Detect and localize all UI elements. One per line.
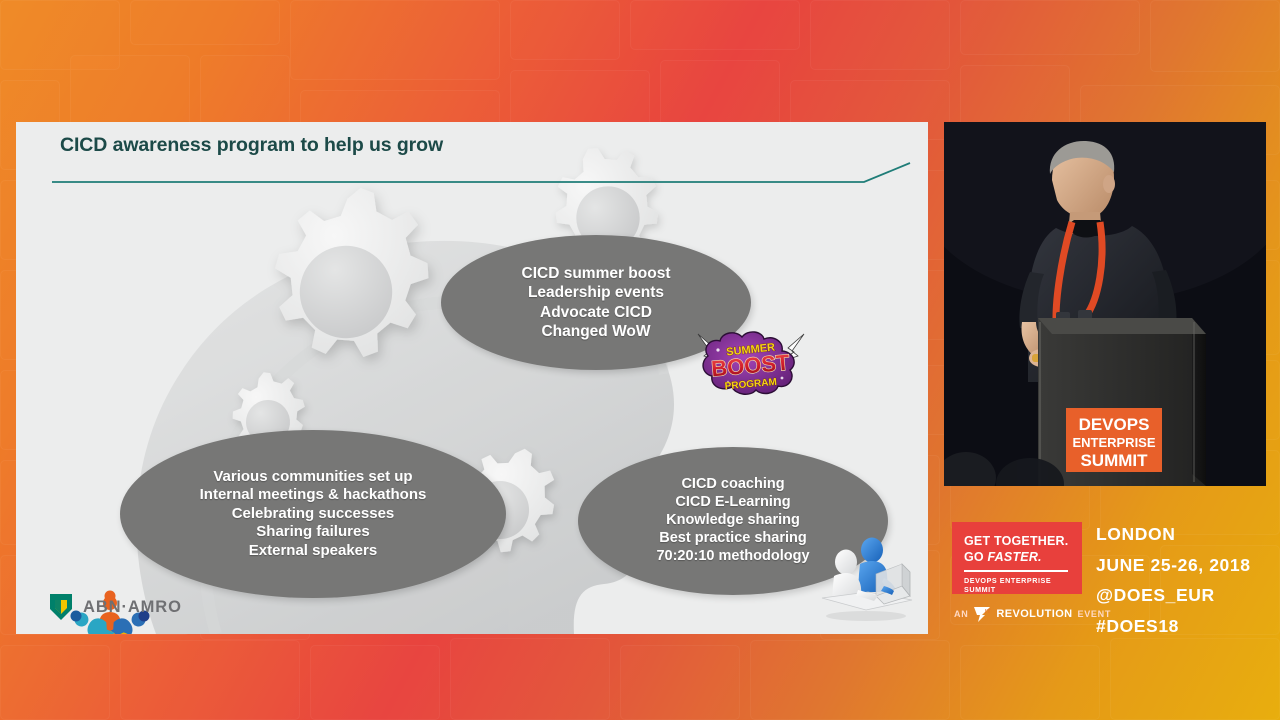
abn-amro-shield-icon [48,592,74,622]
bubble-coaching-lines: CICD coaching CICD E-Learning Knowledge … [656,476,809,565]
presentation-slide: CICD awareness program to help us grow C… [16,122,928,634]
bubble-line: Sharing failures [200,523,427,541]
card-line-3: DEVOPS ENTERPRISE SUMMIT [964,576,1072,594]
abn-amro-logo-text: ABN·AMRO [83,598,182,617]
bubble-line: CICD summer boost [522,264,671,283]
bubble-line: Celebrating successes [200,505,427,523]
event-handle[interactable]: @DOES_EUR [1096,585,1251,606]
card-divider [964,570,1068,572]
bubble-line: CICD coaching [656,476,809,494]
bubble-line: Leadership events [522,283,671,302]
it-revolution-footer: AN IT REVOLUTION EVENT [954,606,1111,622]
svg-text:IT: IT [985,609,991,615]
bubble-summer-boost-lines: CICD summer boost Leadership events Advo… [522,264,671,340]
bubble-line: CICD E-Learning [656,494,809,512]
bubble-line: Best practice sharing [656,530,809,548]
bubble-line: Advocate CICD [522,303,671,322]
card-line-1: GET TOGETHER. [964,533,1072,549]
bubble-line: Knowledge sharing [656,512,809,530]
get-together-card: GET TOGETHER. GO FASTER. DEVOPS ENTERPRI… [952,522,1082,594]
event-dates: JUNE 25-26, 2018 [1096,555,1251,576]
bubble-line: Various communities set up [200,468,427,486]
summer-boost-program-badge-icon: SUMMER BOOST PROGRAM [684,326,818,398]
event-city: LONDON [1096,524,1251,545]
slide-title: CICD awareness program to help us grow [60,134,443,157]
it-revolution-mark-icon: IT [973,606,991,622]
bubble-line: Internal meetings & hackathons [200,486,427,504]
podium-sign-line2: ENTERPRISE [1072,435,1155,450]
podium-sign-line3: SUMMIT [1080,451,1148,470]
bubble-line: Changed WoW [522,322,671,341]
two-figures-laptop-icon [814,534,918,622]
bubble-communities: Various communities set up Internal meet… [120,430,506,598]
card-line-2: GO FASTER. [964,549,1072,565]
bubble-line: External speakers [200,542,427,560]
event-branding: GET TOGETHER. GO FASTER. DEVOPS ENTERPRI… [944,506,1266,636]
footer-brand: REVOLUTION [996,608,1072,620]
conference-speaker-video[interactable]: DEVOPS ENTERPRISE SUMMIT [944,122,1266,486]
title-underline [52,162,912,190]
bubble-communities-lines: Various communities set up Internal meet… [200,468,427,560]
abn-amro-logo: ABN·AMRO [48,592,182,622]
footer-an: AN [954,609,968,619]
bubble-line: 70:20:10 methodology [656,548,809,566]
podium: DEVOPS ENTERPRISE SUMMIT [1038,318,1206,486]
event-info-lines: LONDON JUNE 25-26, 2018 @DOES_EUR #DOES1… [1096,524,1251,646]
podium-sign-line1: DEVOPS [1079,415,1150,434]
speaker-stage-scene: DEVOPS ENTERPRISE SUMMIT [944,122,1266,486]
event-hashtag[interactable]: #DOES18 [1096,616,1251,637]
